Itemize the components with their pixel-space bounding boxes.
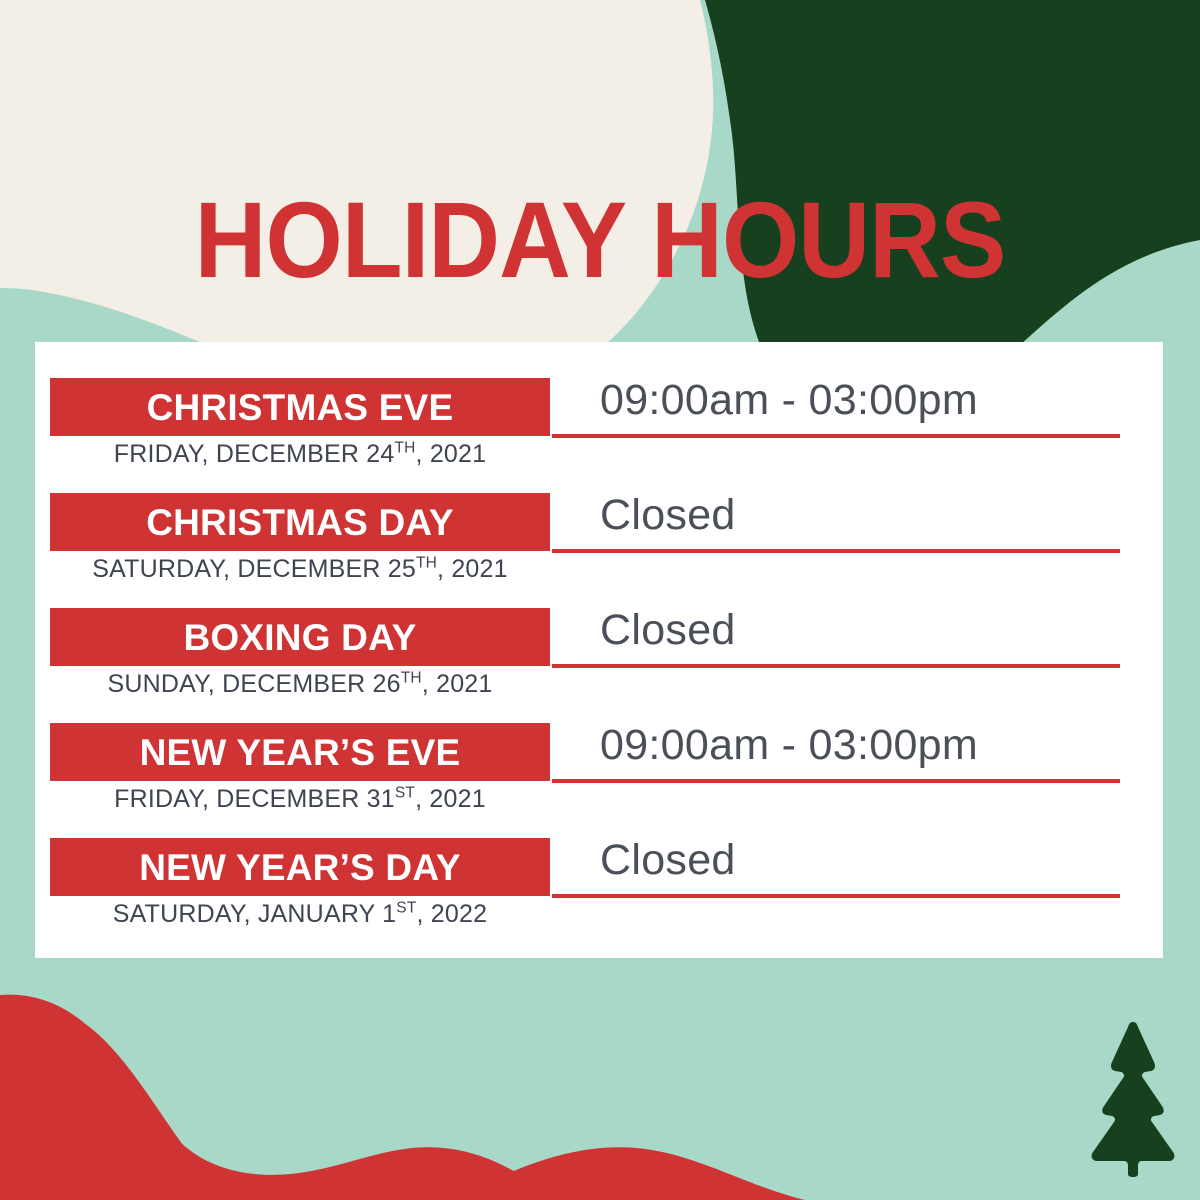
date-ordinal: ST: [396, 900, 416, 917]
row-underline: [552, 434, 1120, 438]
date-ordinal: TH: [401, 670, 422, 687]
date-prefix: SATURDAY, JANUARY 1: [113, 900, 397, 928]
date-prefix: SUNDAY, DECEMBER 26: [107, 670, 400, 698]
date-prefix: FRIDAY, DECEMBER 24: [114, 440, 395, 468]
table-row: NEW YEAR’S DAY SATURDAY, JANUARY 1ST, 20…: [35, 838, 1163, 953]
holiday-name: NEW YEAR’S EVE: [140, 734, 461, 771]
red-wave-main: [0, 995, 620, 1200]
holiday-hours: 09:00am - 03:00pm: [600, 719, 978, 773]
holiday-name: CHRISTMAS DAY: [146, 504, 454, 541]
holiday-name-band: CHRISTMAS EVE: [50, 378, 550, 436]
date-suffix: , 2021: [422, 670, 493, 698]
table-row: BOXING DAY SUNDAY, DECEMBER 26TH, 2021 C…: [35, 608, 1163, 723]
date-prefix: FRIDAY, DECEMBER 31: [114, 785, 395, 813]
holiday-name: NEW YEAR’S DAY: [139, 849, 461, 886]
holiday-name: BOXING DAY: [184, 619, 417, 656]
date-ordinal: TH: [416, 555, 437, 572]
holiday-date: SUNDAY, DECEMBER 26TH, 2021: [50, 668, 550, 701]
date-suffix: , 2021: [416, 440, 487, 468]
row-underline: [552, 894, 1120, 898]
holiday-date: FRIDAY, DECEMBER 24TH, 2021: [50, 438, 550, 471]
holiday-date: SATURDAY, DECEMBER 25TH, 2021: [50, 553, 550, 586]
holiday-name-band: NEW YEAR’S DAY: [50, 838, 550, 896]
row-underline: [552, 779, 1120, 783]
table-row: NEW YEAR’S EVE FRIDAY, DECEMBER 31ST, 20…: [35, 723, 1163, 838]
holiday-hours: 09:00am - 03:00pm: [600, 374, 978, 428]
red-wave: [0, 999, 1200, 1200]
christmas-tree-icon: [1078, 1018, 1188, 1178]
date-prefix: SATURDAY, DECEMBER 25: [92, 555, 416, 583]
date-suffix: , 2022: [417, 900, 488, 928]
row-underline: [552, 549, 1120, 553]
schedule-card: CHRISTMAS EVE FRIDAY, DECEMBER 24TH, 202…: [35, 342, 1163, 958]
holiday-name-band: CHRISTMAS DAY: [50, 493, 550, 551]
date-suffix: , 2021: [437, 555, 508, 583]
date-suffix: , 2021: [415, 785, 486, 813]
holiday-hours-poster: HOLIDAY HOURS CHRISTMAS EVE FRIDAY, DECE…: [0, 0, 1200, 1200]
row-underline: [552, 664, 1120, 668]
holiday-name: CHRISTMAS EVE: [147, 389, 454, 426]
holiday-hours: Closed: [600, 604, 736, 658]
holiday-hours: Closed: [600, 834, 736, 888]
page-title: HOLIDAY HOURS: [48, 186, 1152, 294]
table-row: CHRISTMAS DAY SATURDAY, DECEMBER 25TH, 2…: [35, 493, 1163, 608]
holiday-date: FRIDAY, DECEMBER 31ST, 2021: [50, 783, 550, 816]
date-ordinal: ST: [395, 785, 415, 802]
table-row: CHRISTMAS EVE FRIDAY, DECEMBER 24TH, 202…: [35, 378, 1163, 493]
holiday-hours: Closed: [600, 489, 736, 543]
holiday-name-band: BOXING DAY: [50, 608, 550, 666]
holiday-name-band: NEW YEAR’S EVE: [50, 723, 550, 781]
holiday-date: SATURDAY, JANUARY 1ST, 2022: [50, 898, 550, 931]
date-ordinal: TH: [394, 440, 415, 457]
